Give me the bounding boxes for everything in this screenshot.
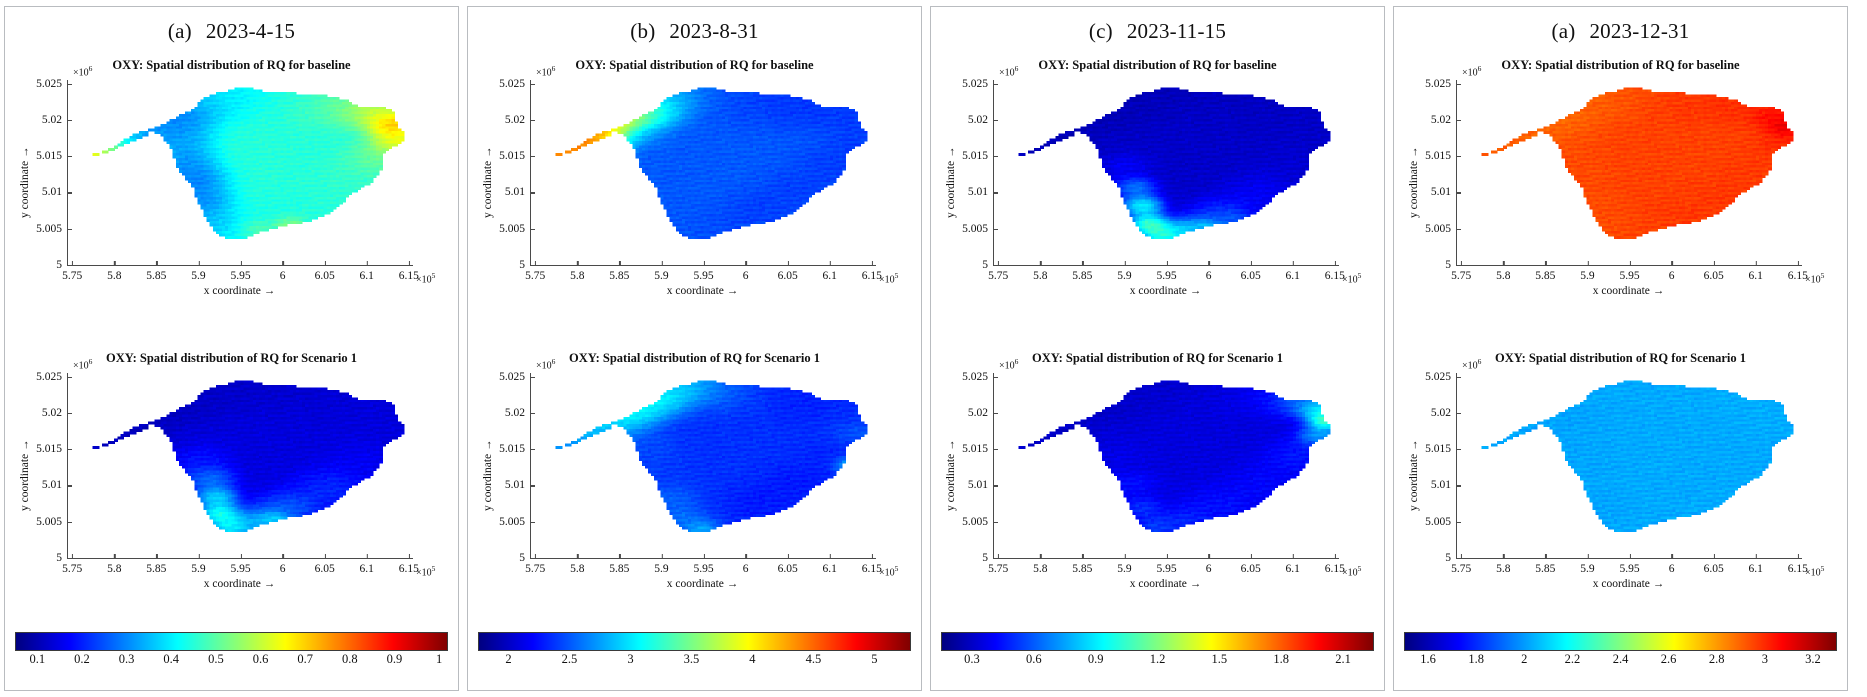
x-tick-label: 5.9 (1117, 265, 1131, 282)
x-axis-exponent: ×105 (1805, 564, 1824, 578)
y-axis-exponent: ×106 (999, 357, 1018, 371)
y-exp-base: ×10 (1462, 360, 1478, 371)
y-tick-label: 5.01 (505, 479, 531, 491)
x-tick-label: 5.8 (1033, 558, 1047, 575)
x-tick-label: 5.8 (570, 265, 584, 282)
x-tick-label: 6.05 (778, 558, 798, 575)
x-axis-exponent: ×105 (416, 271, 435, 285)
x-axis-exponent: ×105 (879, 564, 898, 578)
panel-2: (b)2023-8-31OXY: Spatial distribution of… (467, 6, 922, 691)
x-axis-label: x coordinate → (67, 285, 412, 297)
heatmap-scenario (994, 373, 1339, 558)
colorbar-tick-label: 3.5 (684, 652, 700, 667)
y-tick-label: 5.025 (499, 371, 531, 383)
x-axis-label: x coordinate → (993, 578, 1338, 590)
panel-date: 2023-4-15 (206, 19, 295, 43)
x-exp-power: 5 (1821, 564, 1825, 573)
x-tick-label: 5.95 (1156, 265, 1176, 282)
plot-axes: 5.0255.025.0155.015.00555.755.85.855.95.… (1456, 80, 1802, 266)
y-tick-label: 5.025 (962, 371, 994, 383)
x-tick-label: 6.1 (823, 265, 837, 282)
x-tick-label: 5.95 (693, 265, 713, 282)
y-axis-label: y coordinate → (945, 439, 957, 511)
plot-axes: 5.0255.025.0155.015.00555.755.85.855.95.… (67, 80, 413, 266)
y-tick-label: 5.02 (1431, 407, 1457, 419)
colorbar-tick-label: 0.9 (387, 652, 403, 667)
y-tick-label: 5.015 (36, 150, 68, 162)
x-tick-label: 5.95 (230, 558, 250, 575)
subplot-scenario-2: OXY: Spatial distribution of RQ for Scen… (468, 339, 921, 632)
colorbar-tick-label: 2.5 (562, 652, 578, 667)
colorbar-tick-label: 2.1 (1335, 652, 1351, 667)
subplot-scenario-1: OXY: Spatial distribution of RQ for Scen… (5, 339, 458, 632)
colorbar-tick-label: 4 (749, 652, 755, 667)
y-tick-label: 5.02 (42, 114, 68, 126)
colorbar-area-4: 1.61.822.22.42.62.833.2 (1404, 632, 1837, 684)
y-tick-label: 5.015 (36, 443, 68, 455)
y-axis-exponent: ×106 (1462, 357, 1481, 371)
x-exp-power: 5 (895, 564, 899, 573)
x-exp-power: 5 (432, 564, 436, 573)
x-tick-label: 6.1 (1749, 265, 1763, 282)
y-tick-label: 5.01 (968, 479, 994, 491)
colorbar-area-1: 0.10.20.30.40.50.60.70.80.91 (15, 632, 448, 684)
y-exp-base: ×10 (536, 360, 552, 371)
x-tick-label: 5.85 (1072, 265, 1092, 282)
x-tick-label: 6.05 (1241, 558, 1261, 575)
y-tick-label: 5.02 (968, 114, 994, 126)
y-exp-base: ×10 (536, 67, 552, 78)
y-axis-label: y coordinate → (19, 439, 31, 511)
y-tick-label: 5.02 (505, 407, 531, 419)
y-tick-label: 5.025 (1425, 371, 1457, 383)
x-tick-label: 5.8 (1496, 265, 1510, 282)
colorbar-ticks: 1.61.822.22.42.62.833.2 (1404, 649, 1837, 679)
colorbar-tick-label: 4.5 (806, 652, 822, 667)
subplot-baseline-4: OXY: Spatial distribution of RQ for base… (1394, 46, 1847, 339)
x-axis-exponent: ×105 (1342, 271, 1361, 285)
x-tick-label: 5.9 (654, 558, 668, 575)
x-tick-label: 6.1 (1749, 558, 1763, 575)
x-exp-power: 5 (1358, 271, 1362, 280)
x-tick-label: 5.8 (1496, 558, 1510, 575)
y-axis-exponent: ×106 (536, 64, 555, 78)
y-exp-power: 6 (1478, 64, 1482, 73)
panel-tag: (a) (1552, 19, 1576, 43)
x-exp-power: 5 (432, 271, 436, 280)
panel-date: 2023-11-15 (1127, 19, 1226, 43)
x-exp-base: ×10 (416, 274, 432, 285)
colorbar-tick-label: 0.4 (163, 652, 179, 667)
x-exp-base: ×10 (879, 567, 895, 578)
y-tick-label: 5.02 (1431, 114, 1457, 126)
panel-title: (a)2023-4-15 (5, 19, 458, 44)
figure-root: (a)2023-4-15OXY: Spatial distribution of… (0, 0, 1867, 697)
x-tick-label: 5.9 (654, 265, 668, 282)
plot-axes: 5.0255.025.0155.015.00555.755.85.855.95.… (993, 80, 1339, 266)
x-tick-label: 5.8 (107, 265, 121, 282)
x-tick-label: 5.75 (62, 265, 82, 282)
x-exp-base: ×10 (879, 274, 895, 285)
colorbar-tick-label: 5 (871, 652, 877, 667)
colorbar-tick-label: 0.3 (964, 652, 980, 667)
colorbar-tick-label: 0.6 (1026, 652, 1042, 667)
colorbar-tick-label: 0.3 (119, 652, 135, 667)
panel-3: (c)2023-11-15OXY: Spatial distribution o… (930, 6, 1385, 691)
x-tick-label: 5.95 (1619, 265, 1639, 282)
x-tick-label: 5.8 (1033, 265, 1047, 282)
x-tick-label: 6 (280, 558, 286, 575)
y-tick-label: 5.005 (1425, 516, 1457, 528)
x-tick-label: 5.9 (1580, 558, 1594, 575)
x-tick-label: 5.75 (525, 265, 545, 282)
heatmap-scenario (1457, 373, 1802, 558)
colorbar-tick-label: 0.6 (253, 652, 269, 667)
colorbar-tick-label: 2.6 (1661, 652, 1677, 667)
x-tick-label: 5.85 (146, 558, 166, 575)
x-exp-base: ×10 (1805, 274, 1821, 285)
colorbar-tick-label: 1.6 (1420, 652, 1436, 667)
x-axis-label: x coordinate → (1456, 285, 1801, 297)
panel-tag: (c) (1089, 19, 1113, 43)
x-tick-label: 6.1 (1286, 265, 1300, 282)
y-exp-power: 6 (89, 64, 93, 73)
heatmap-baseline (68, 80, 413, 265)
panel-tag: (a) (168, 19, 192, 43)
panel-date: 2023-12-31 (1589, 19, 1689, 43)
y-exp-power: 6 (1015, 357, 1019, 366)
colorbar-ticks: 22.533.544.55 (478, 649, 911, 679)
panel-1: (a)2023-4-15OXY: Spatial distribution of… (4, 6, 459, 691)
x-tick-label: 6.1 (823, 558, 837, 575)
y-exp-base: ×10 (73, 360, 89, 371)
heatmap-scenario (531, 373, 876, 558)
x-tick-label: 5.85 (609, 265, 629, 282)
x-tick-label: 5.85 (609, 558, 629, 575)
x-tick-label: 5.9 (1580, 265, 1594, 282)
y-tick-label: 5.01 (505, 186, 531, 198)
y-axis-exponent: ×106 (536, 357, 555, 371)
x-tick-label: 6 (280, 265, 286, 282)
y-tick-label: 5.005 (36, 223, 68, 235)
colorbar-tick-label: 3 (627, 652, 633, 667)
panel-title: (b)2023-8-31 (468, 19, 921, 44)
x-tick-label: 5.75 (988, 558, 1008, 575)
x-exp-base: ×10 (1342, 274, 1358, 285)
subplot-baseline-2: OXY: Spatial distribution of RQ for base… (468, 46, 921, 339)
y-tick-label: 5.025 (962, 78, 994, 90)
x-tick-label: 6.1 (360, 265, 374, 282)
y-tick-label: 5.01 (42, 479, 68, 491)
subplot-baseline-3: OXY: Spatial distribution of RQ for base… (931, 46, 1384, 339)
x-tick-label: 5.85 (1535, 558, 1555, 575)
y-tick-label: 5.01 (1431, 186, 1457, 198)
x-tick-label: 6.05 (1704, 265, 1724, 282)
y-tick-label: 5.025 (36, 371, 68, 383)
y-tick-label: 5.005 (962, 223, 994, 235)
y-tick-label: 5.01 (968, 186, 994, 198)
x-tick-label: 5.95 (1619, 558, 1639, 575)
colorbar-tick-label: 1.8 (1468, 652, 1484, 667)
y-tick-label: 5.015 (499, 150, 531, 162)
x-tick-label: 6.05 (1704, 558, 1724, 575)
y-axis-label: y coordinate → (482, 439, 494, 511)
panel-tag: (b) (630, 19, 655, 43)
y-tick-label: 5.015 (962, 150, 994, 162)
colorbar-tick-label: 2 (1521, 652, 1527, 667)
heatmap-baseline (994, 80, 1339, 265)
x-tick-label: 5.95 (693, 558, 713, 575)
y-axis-exponent: ×106 (1462, 64, 1481, 78)
x-tick-label: 5.85 (1072, 558, 1092, 575)
x-tick-label: 5.8 (107, 558, 121, 575)
y-tick-label: 5.005 (499, 223, 531, 235)
plot-axes: 5.0255.025.0155.015.00555.755.85.855.95.… (993, 373, 1339, 559)
x-exp-power: 5 (1358, 564, 1362, 573)
x-exp-power: 5 (1821, 271, 1825, 280)
y-exp-base: ×10 (73, 67, 89, 78)
y-exp-base: ×10 (1462, 67, 1478, 78)
x-tick-label: 5.85 (1535, 265, 1555, 282)
colorbar-tick-label: 3 (1762, 652, 1768, 667)
y-axis-exponent: ×106 (73, 357, 92, 371)
x-exp-power: 5 (895, 271, 899, 280)
x-axis-label: x coordinate → (993, 285, 1338, 297)
x-exp-base: ×10 (1342, 567, 1358, 578)
heatmap-baseline (1457, 80, 1802, 265)
colorbar-tick-label: 2.2 (1565, 652, 1581, 667)
x-axis-label: x coordinate → (530, 578, 875, 590)
y-tick-label: 5.02 (42, 407, 68, 419)
x-tick-label: 6 (1206, 558, 1212, 575)
y-exp-power: 6 (552, 357, 556, 366)
y-tick-label: 5.005 (36, 516, 68, 528)
x-axis-label: x coordinate → (530, 285, 875, 297)
y-tick-label: 5.01 (42, 186, 68, 198)
x-exp-base: ×10 (416, 567, 432, 578)
y-tick-label: 5.005 (499, 516, 531, 528)
x-tick-label: 5.95 (230, 265, 250, 282)
subplot-scenario-4: OXY: Spatial distribution of RQ for Scen… (1394, 339, 1847, 632)
x-tick-label: 5.95 (1156, 558, 1176, 575)
x-tick-label: 5.9 (1117, 558, 1131, 575)
y-tick-label: 5.015 (499, 443, 531, 455)
heatmap-scenario (68, 373, 413, 558)
y-tick-label: 5.005 (962, 516, 994, 528)
colorbar-tick-label: 1.5 (1212, 652, 1228, 667)
x-tick-label: 6.05 (1241, 265, 1261, 282)
x-tick-label: 6.05 (315, 265, 335, 282)
colorbar-tick-label: 1.2 (1150, 652, 1166, 667)
y-exp-power: 6 (1015, 64, 1019, 73)
x-axis-exponent: ×105 (1342, 564, 1361, 578)
colorbar-tick-label: 0.8 (342, 652, 358, 667)
colorbar-tick-label: 1 (436, 652, 442, 667)
y-exp-base: ×10 (999, 360, 1015, 371)
x-exp-base: ×10 (1805, 567, 1821, 578)
x-tick-label: 5.9 (191, 558, 205, 575)
x-tick-label: 6.1 (360, 558, 374, 575)
y-tick-label: 5.005 (1425, 223, 1457, 235)
x-tick-label: 5.75 (525, 558, 545, 575)
y-tick-label: 5.015 (1425, 150, 1457, 162)
colorbar-tick-label: 0.2 (74, 652, 90, 667)
y-exp-power: 6 (1478, 357, 1482, 366)
x-tick-label: 5.8 (570, 558, 584, 575)
x-tick-label: 6 (1206, 265, 1212, 282)
colorbar-tick-label: 1.8 (1273, 652, 1289, 667)
y-tick-label: 5.025 (499, 78, 531, 90)
colorbar-area-2: 22.533.544.55 (478, 632, 911, 684)
y-tick-label: 5.025 (36, 78, 68, 90)
x-axis-exponent: ×105 (879, 271, 898, 285)
x-axis-exponent: ×105 (1805, 271, 1824, 285)
plot-axes: 5.0255.025.0155.015.00555.755.85.855.95.… (530, 373, 876, 559)
y-axis-label: y coordinate → (945, 146, 957, 218)
y-exp-base: ×10 (999, 67, 1015, 78)
x-tick-label: 6 (1669, 265, 1675, 282)
x-tick-label: 5.9 (191, 265, 205, 282)
panel-title: (c)2023-11-15 (931, 19, 1384, 44)
colorbar-tick-label: 0.1 (30, 652, 46, 667)
x-tick-label: 5.75 (988, 265, 1008, 282)
x-axis-label: x coordinate → (1456, 578, 1801, 590)
y-axis-label: y coordinate → (482, 146, 494, 218)
colorbar-tick-label: 2.8 (1709, 652, 1725, 667)
subplot-baseline-1: OXY: Spatial distribution of RQ for base… (5, 46, 458, 339)
y-axis-label: y coordinate → (1408, 439, 1420, 511)
y-exp-power: 6 (89, 357, 93, 366)
y-exp-power: 6 (552, 64, 556, 73)
y-tick-label: 5.015 (962, 443, 994, 455)
y-axis-exponent: ×106 (73, 64, 92, 78)
colorbar-area-3: 0.30.60.91.21.51.82.1 (941, 632, 1374, 684)
colorbar-tick-label: 2.4 (1613, 652, 1629, 667)
y-tick-label: 5.01 (1431, 479, 1457, 491)
panel-title: (a)2023-12-31 (1394, 19, 1847, 44)
x-axis-label: x coordinate → (67, 578, 412, 590)
colorbar-tick-label: 2 (505, 652, 511, 667)
x-tick-label: 5.75 (62, 558, 82, 575)
y-axis-label: y coordinate → (1408, 146, 1420, 218)
x-tick-label: 5.85 (146, 265, 166, 282)
heatmap-baseline (531, 80, 876, 265)
plot-axes: 5.0255.025.0155.015.00555.755.85.855.95.… (1456, 373, 1802, 559)
colorbar-tick-label: 0.7 (297, 652, 313, 667)
x-axis-exponent: ×105 (416, 564, 435, 578)
x-tick-label: 6.05 (778, 265, 798, 282)
x-tick-label: 6.1 (1286, 558, 1300, 575)
plot-axes: 5.0255.025.0155.015.00555.755.85.855.95.… (530, 80, 876, 266)
colorbar-tick-label: 3.2 (1805, 652, 1821, 667)
x-tick-label: 6 (743, 558, 749, 575)
panel-4: (a)2023-12-31OXY: Spatial distribution o… (1393, 6, 1848, 691)
colorbar-ticks: 0.10.20.30.40.50.60.70.80.91 (15, 649, 448, 679)
x-tick-label: 5.75 (1451, 558, 1471, 575)
y-tick-label: 5.02 (968, 407, 994, 419)
subplot-scenario-3: OXY: Spatial distribution of RQ for Scen… (931, 339, 1384, 632)
plot-axes: 5.0255.025.0155.015.00555.755.85.855.95.… (67, 373, 413, 559)
x-tick-label: 5.75 (1451, 265, 1471, 282)
y-tick-label: 5.02 (505, 114, 531, 126)
colorbar-ticks: 0.30.60.91.21.51.82.1 (941, 649, 1374, 679)
x-tick-label: 6 (1669, 558, 1675, 575)
y-tick-label: 5.015 (1425, 443, 1457, 455)
x-tick-label: 6 (743, 265, 749, 282)
x-tick-label: 6.05 (315, 558, 335, 575)
colorbar-tick-label: 0.9 (1088, 652, 1104, 667)
y-axis-exponent: ×106 (999, 64, 1018, 78)
colorbar-tick-label: 0.5 (208, 652, 224, 667)
panel-date: 2023-8-31 (669, 19, 758, 43)
y-axis-label: y coordinate → (19, 146, 31, 218)
y-tick-label: 5.025 (1425, 78, 1457, 90)
